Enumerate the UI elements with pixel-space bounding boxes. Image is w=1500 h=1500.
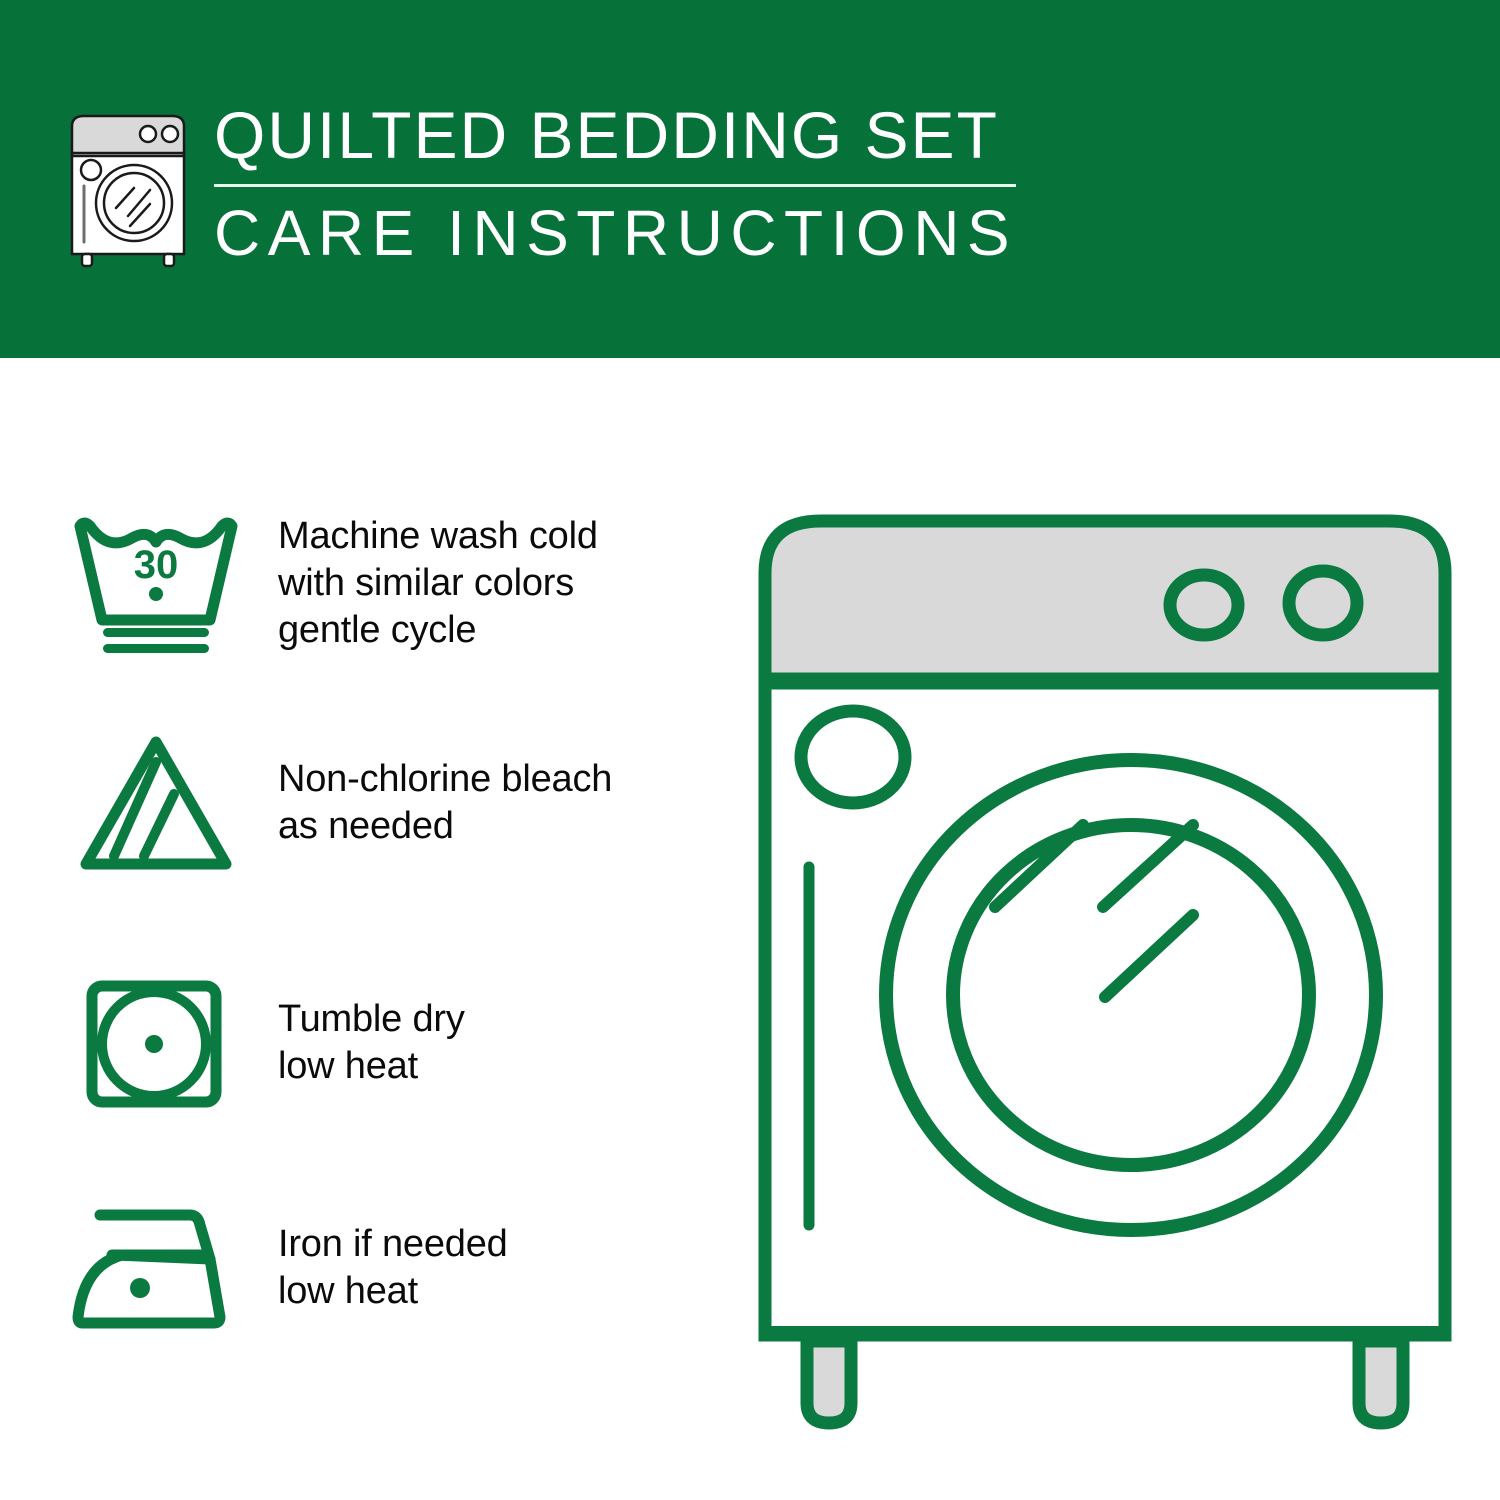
washing-machine-icon <box>64 108 196 268</box>
care-row-iron: Iron if needed low heat <box>70 1193 710 1343</box>
care-row-bleach: Non-chlorine bleach as needed <box>70 728 710 878</box>
care-row-label: Iron if needed low heat <box>242 1221 508 1315</box>
care-row-label: Non-chlorine bleach as needed <box>242 756 612 850</box>
page-title: QUILTED BEDDING SET <box>214 96 1020 174</box>
iron-low-heat-icon <box>70 1193 242 1343</box>
care-instructions-page: QUILTED BEDDING SET CARE INSTRUCTIONS 30 <box>0 0 1500 1500</box>
care-row-machine-wash: 30 Machine wash cold with similar colors… <box>70 508 710 658</box>
front-load-washing-machine-illustration <box>745 495 1465 1445</box>
non-chlorine-bleach-icon <box>70 728 242 878</box>
care-symbol-list: 30 Machine wash cold with similar colors… <box>0 358 720 1500</box>
tumble-dry-low-icon <box>70 968 242 1118</box>
care-row-label: Machine wash cold with similar colors ge… <box>242 513 598 654</box>
page-subtitle: CARE INSTRUCTIONS <box>214 195 1020 271</box>
title-divider <box>214 184 1016 187</box>
care-row-tumble-dry: Tumble dry low heat <box>70 968 710 1118</box>
header-text-block: QUILTED BEDDING SET CARE INSTRUCTIONS <box>214 96 1020 271</box>
header-banner: QUILTED BEDDING SET CARE INSTRUCTIONS <box>0 0 1500 358</box>
care-row-label: Tumble dry low heat <box>242 996 465 1090</box>
wash-temperature-label: 30 <box>134 543 179 587</box>
machine-wash-30-icon: 30 <box>70 508 242 658</box>
